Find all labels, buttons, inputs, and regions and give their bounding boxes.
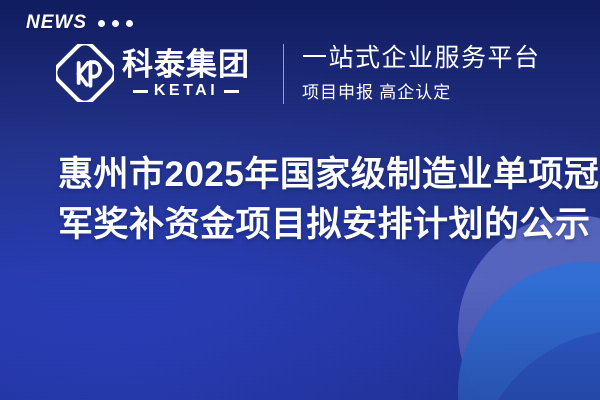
news-badge: NEWS: [26, 12, 133, 34]
ketai-diamond-kp-logo-icon: [56, 44, 114, 102]
news-label: NEWS: [26, 12, 87, 34]
brand-name-cn: 科泰集团: [122, 49, 250, 82]
tagline-main: 一站式企业服务平台: [302, 44, 541, 73]
tagline-sub: 项目申报 高企认定: [302, 78, 541, 103]
brand-name-en: KETAI: [154, 83, 218, 99]
news-poster: NEWS: [0, 0, 600, 400]
brand-name-en-row: KETAI: [133, 83, 239, 99]
dot-icon: [98, 20, 105, 27]
rule-right-decoration: [224, 90, 239, 93]
headline-line-1: 惠州市2025年国家级制造业单项冠: [58, 150, 558, 200]
brand-lockup: 科泰集团 KETAI: [56, 44, 250, 102]
news-dots-group: [98, 20, 133, 27]
vertical-divider: [283, 44, 284, 104]
headline-line-2: 军奖补资金项目拟安排计划的公示: [58, 200, 558, 250]
rule-left-decoration: [133, 90, 148, 93]
dot-icon: [126, 20, 133, 27]
dot-icon: [112, 20, 119, 27]
background-bottom-shade: [0, 280, 600, 400]
page-title: 惠州市2025年国家级制造业单项冠 军奖补资金项目拟安排计划的公示: [58, 150, 558, 249]
brand-wordmark: 科泰集团 KETAI: [122, 47, 250, 100]
tagline-block: 一站式企业服务平台 项目申报 高企认定: [302, 44, 541, 103]
